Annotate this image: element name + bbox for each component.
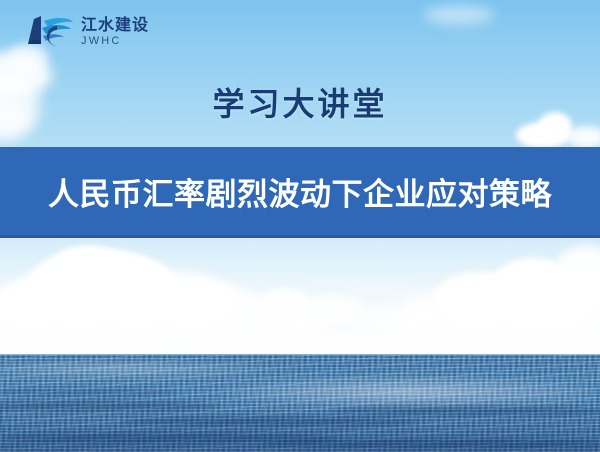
logo-company-name-cn: 江水建设	[81, 17, 149, 33]
logo-text-block: 江水建设 JWHC	[81, 17, 149, 47]
learning-lecture-poster: 江水建设 JWHC 学习大讲堂 人民币汇率剧烈波动下企业应对策略	[0, 0, 600, 452]
cloud-top-right	[566, 126, 600, 148]
ocean-background	[0, 355, 600, 452]
sky-haze	[0, 236, 600, 356]
jwhc-wave-logo-mark	[24, 13, 74, 51]
company-logo: 江水建设 JWHC	[24, 13, 149, 51]
topic-banner-text: 人民币汇率剧烈波动下企业应对策略	[48, 169, 552, 214]
cloud-top-right	[424, 6, 494, 24]
topic-banner: 人民币汇率剧烈波动下企业应对策略	[0, 147, 600, 238]
logo-company-name-en: JWHC	[81, 36, 149, 47]
page-title: 学习大讲堂	[0, 79, 600, 125]
water-sun-glint	[200, 375, 600, 409]
water-foreground-shading	[0, 406, 600, 452]
water-sun-glint	[0, 359, 300, 379]
